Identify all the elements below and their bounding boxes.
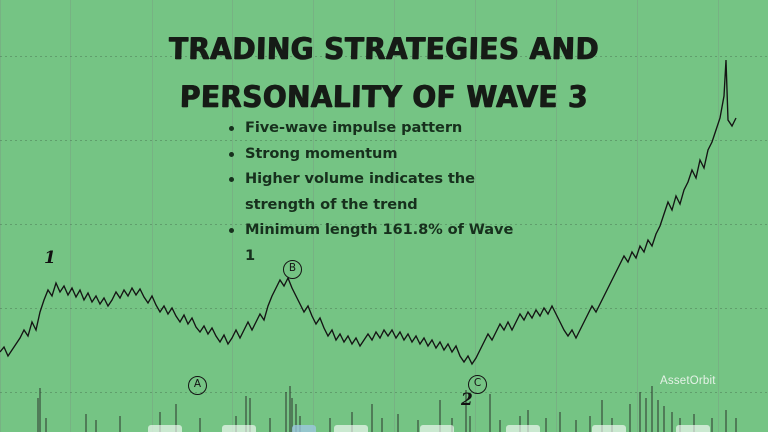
thumbnail-chip-1[interactable] bbox=[222, 425, 256, 432]
bullet-item-3: Higher volume indicates the strength of … bbox=[226, 166, 526, 217]
thumbnail-chip-7[interactable] bbox=[676, 425, 710, 432]
thumbnail-chip-0[interactable] bbox=[148, 425, 182, 432]
bottom-thumbnail-strip[interactable] bbox=[0, 422, 768, 432]
thumbnail-chip-2[interactable] bbox=[292, 425, 316, 432]
watermark: AssetOrbit bbox=[660, 375, 716, 387]
bullet-item-1: Five-wave impulse pattern bbox=[226, 115, 526, 141]
wave-2-marker: 2 bbox=[461, 390, 473, 410]
bullet-item-2: Strong momentum bbox=[226, 141, 526, 167]
wave-b-marker: B bbox=[283, 260, 302, 279]
wave-a-marker: A bbox=[188, 376, 207, 395]
thumbnail-chip-5[interactable] bbox=[506, 425, 540, 432]
bullet-item-4: Minimum length 161.8% of Wave 1 bbox=[226, 217, 526, 268]
bullet-list: Five-wave impulse patternStrong momentum… bbox=[226, 115, 526, 268]
video-frame: TRADING STRATEGIES AND PERSONALITY OF WA… bbox=[0, 0, 768, 432]
wave-1-marker: 1 bbox=[44, 248, 56, 268]
thumbnail-chip-6[interactable] bbox=[592, 425, 626, 432]
thumbnail-chip-3[interactable] bbox=[334, 425, 368, 432]
thumbnail-chip-4[interactable] bbox=[420, 425, 454, 432]
